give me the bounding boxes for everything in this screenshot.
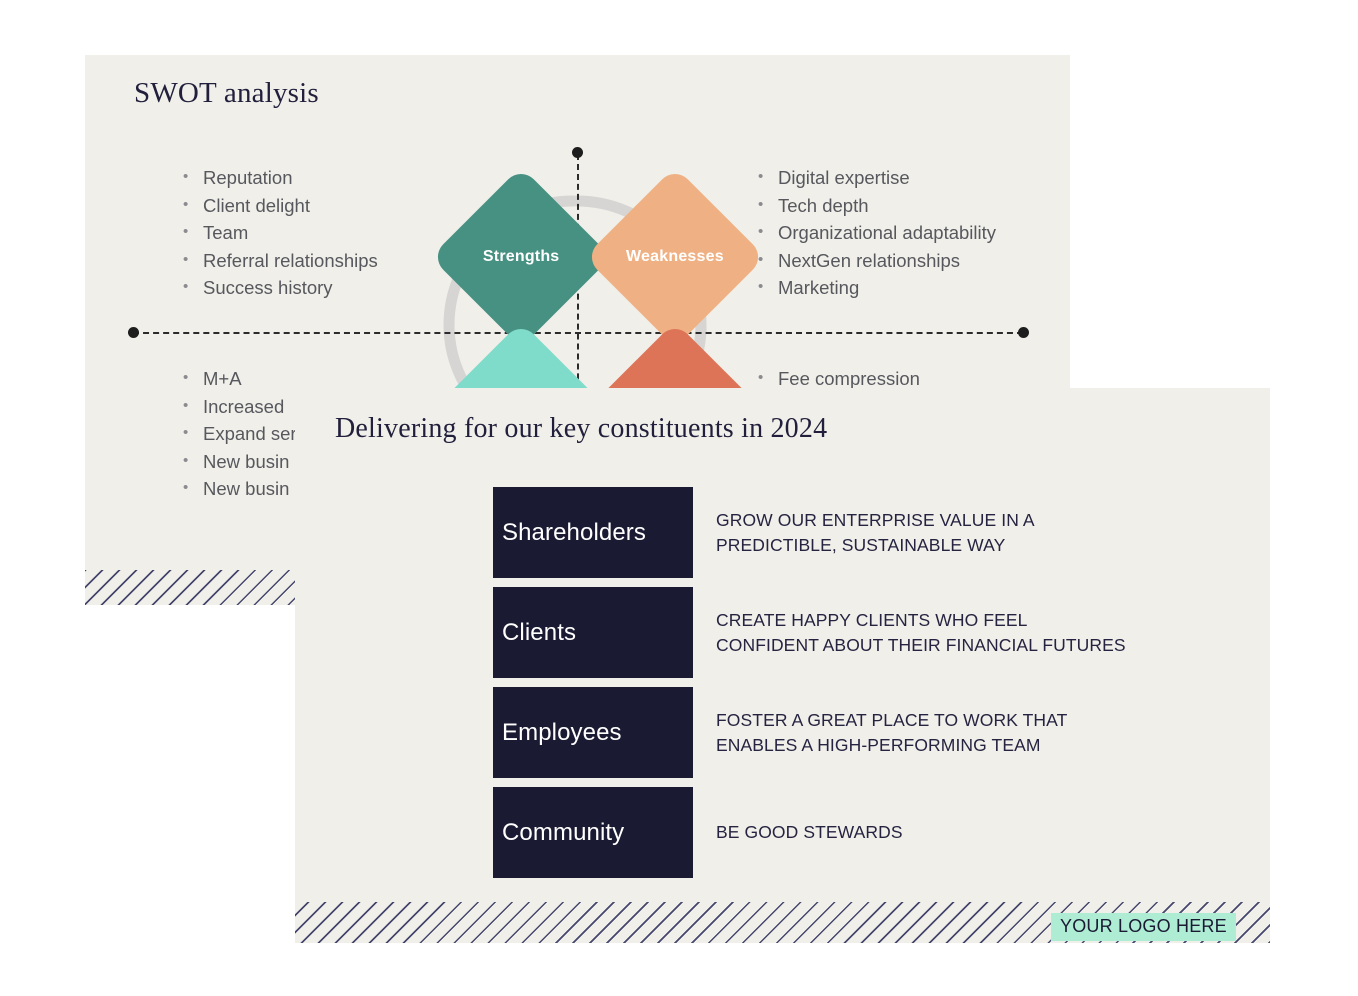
constituents-row-group: Shareholders GROW OUR ENTERPRISE VALUE I…	[493, 487, 1253, 887]
list-item: Team	[175, 219, 378, 247]
quadrant-label-strengths: Strengths	[483, 248, 559, 266]
bullet-list-opportunities: M+A Increased Expand ser New busin New b…	[175, 365, 297, 503]
logo-placeholder[interactable]: YOUR LOGO HERE	[1051, 913, 1236, 941]
constituent-description-cell: GROW OUR ENTERPRISE VALUE IN A PREDICTIB…	[693, 487, 1253, 578]
list-item: Expand ser	[175, 420, 297, 448]
constituent-description-text: BE GOOD STEWARDS	[716, 820, 903, 845]
list-item: Increased	[175, 393, 297, 421]
bullet-list-strengths: Reputation Client delight Team Referral …	[175, 164, 378, 302]
list-item: Client delight	[175, 192, 378, 220]
bullet-list-weaknesses: Digital expertise Tech depth Organizatio…	[750, 164, 996, 302]
list-item: Marketing	[750, 274, 996, 302]
axis-endpoint-dot-left	[128, 327, 139, 338]
list-item: M+A	[175, 365, 297, 393]
constituent-chip-label: Clients	[502, 619, 576, 647]
list-item: Digital expertise	[750, 164, 996, 192]
list-item: Referral relationships	[175, 247, 378, 275]
swot-slide-title: SWOT analysis	[134, 77, 319, 110]
table-row[interactable]: Shareholders GROW OUR ENTERPRISE VALUE I…	[493, 487, 1253, 578]
constituent-description-text: FOSTER A GREAT PLACE TO WORK THAT ENABLE…	[716, 708, 1067, 758]
list-item: Reputation	[175, 164, 378, 192]
constituent-chip-clients[interactable]: Clients	[493, 587, 693, 678]
slide-canvas: SWOT analysis Strengths Weaknesses Reput…	[0, 0, 1358, 996]
constituent-chip-label: Community	[502, 819, 624, 847]
list-item: NextGen relationships	[750, 247, 996, 275]
axis-endpoint-dot-right	[1018, 327, 1029, 338]
key-constituents-slide[interactable]: Delivering for our key constituents in 2…	[295, 388, 1270, 943]
constituent-chip-employees[interactable]: Employees	[493, 687, 693, 778]
table-row[interactable]: Clients CREATE HAPPY CLIENTS WHO FEEL CO…	[493, 587, 1253, 678]
list-item: New busin	[175, 475, 297, 503]
constituent-chip-shareholders[interactable]: Shareholders	[493, 487, 693, 578]
constituent-description-cell: BE GOOD STEWARDS	[693, 787, 1253, 878]
constituent-chip-label: Employees	[502, 719, 622, 747]
constituent-chip-label: Shareholders	[502, 519, 646, 547]
quadrant-label-weaknesses: Weaknesses	[626, 248, 724, 266]
constituent-description-cell: FOSTER A GREAT PLACE TO WORK THAT ENABLE…	[693, 687, 1253, 778]
constituent-description-text: GROW OUR ENTERPRISE VALUE IN A PREDICTIB…	[716, 508, 1035, 558]
constituent-description-text: CREATE HAPPY CLIENTS WHO FEEL CONFIDENT …	[716, 608, 1126, 658]
list-item: New busin	[175, 448, 297, 476]
axis-endpoint-dot-top	[572, 147, 583, 158]
table-row[interactable]: Employees FOSTER A GREAT PLACE TO WORK T…	[493, 687, 1253, 778]
list-item: Organizational adaptability	[750, 219, 996, 247]
list-item: Success history	[175, 274, 378, 302]
list-item: Tech depth	[750, 192, 996, 220]
constituent-description-cell: CREATE HAPPY CLIENTS WHO FEEL CONFIDENT …	[693, 587, 1253, 678]
table-row[interactable]: Community BE GOOD STEWARDS	[493, 787, 1253, 878]
constituent-chip-community[interactable]: Community	[493, 787, 693, 878]
quadrant-diamond-strengths[interactable]: Strengths	[430, 166, 611, 347]
quadrant-diamond-weaknesses[interactable]: Weaknesses	[584, 166, 765, 347]
constituents-slide-title: Delivering for our key constituents in 2…	[335, 413, 827, 445]
